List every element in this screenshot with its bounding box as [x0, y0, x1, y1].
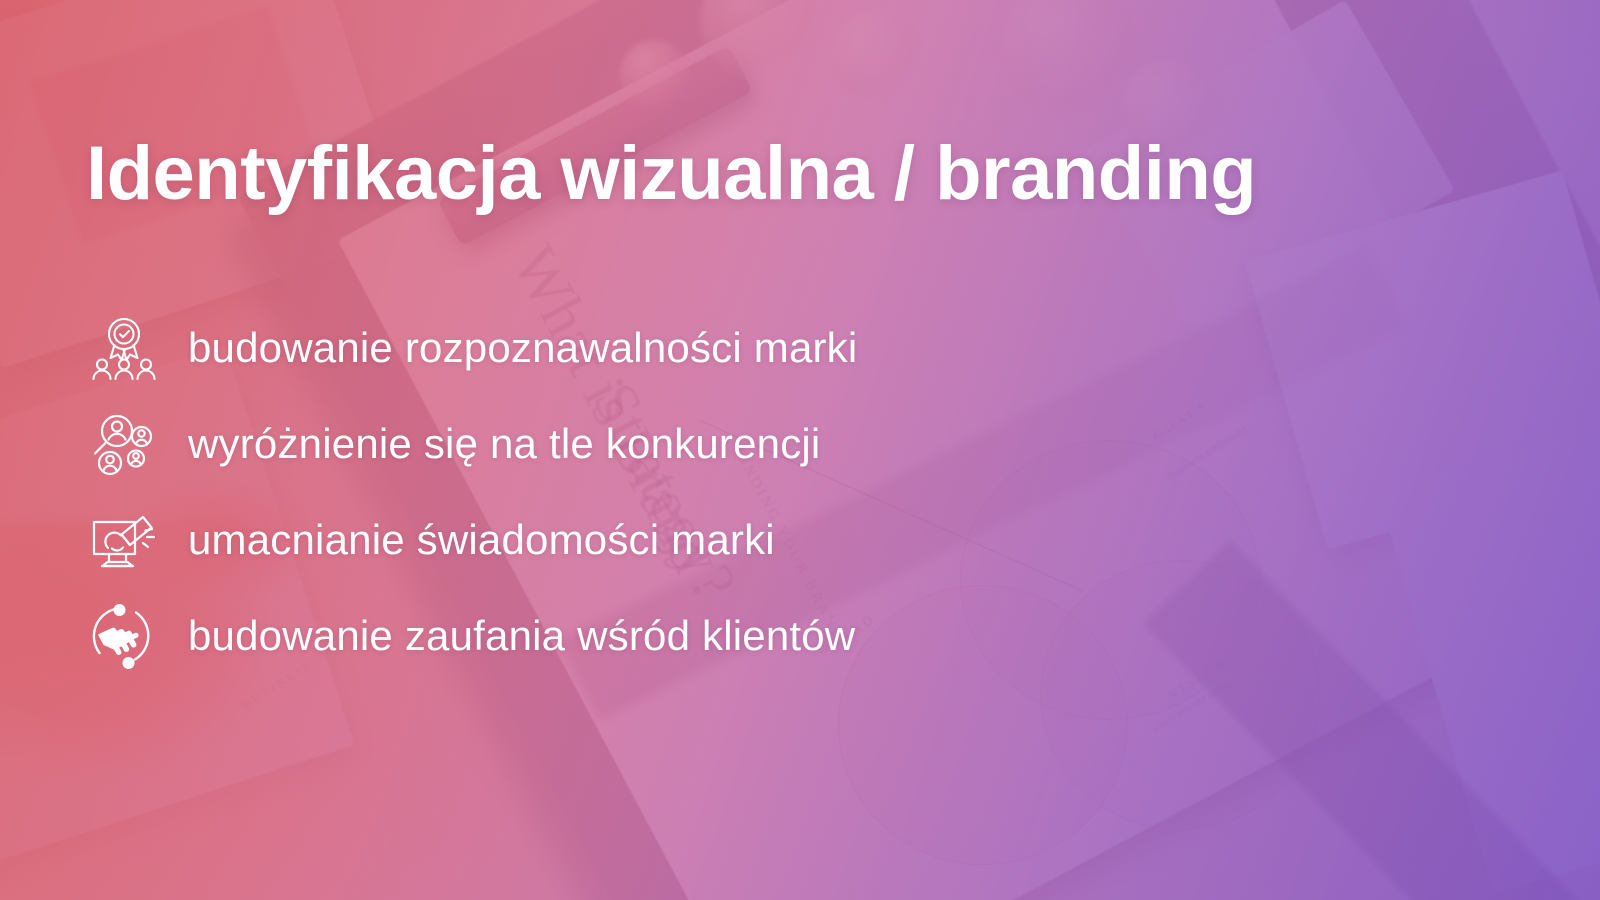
page-title: Identyfikacja wizualna / branding — [86, 134, 1256, 214]
list-item-label: wyróżnienie się na tle konkurencji — [188, 421, 820, 467]
monitor-megaphone-icon — [88, 504, 160, 576]
slide-content: Identyfikacja wizualna / branding — [0, 0, 1600, 900]
magnifier-person-group-icon — [88, 408, 160, 480]
slide-root: What is Brand Strategy? FINDING YOUR BRA… — [0, 0, 1600, 900]
list-item-label: budowanie rozpoznawalności marki — [188, 325, 857, 371]
list-item-label: umacnianie świadomości marki — [188, 517, 775, 563]
handshake-circle-icon — [88, 600, 160, 672]
list-item-label: budowanie zaufania wśród klientów — [188, 613, 855, 659]
list-item: budowanie zaufania wśród klientów — [88, 588, 1188, 684]
list-item: wyróżnienie się na tle konkurencji — [88, 396, 1188, 492]
list-item: umacnianie świadomości marki — [88, 492, 1188, 588]
award-badge-people-icon — [88, 312, 160, 384]
list-item: budowanie rozpoznawalności marki — [88, 300, 1188, 396]
benefit-list: budowanie rozpoznawalności marki — [88, 300, 1188, 684]
